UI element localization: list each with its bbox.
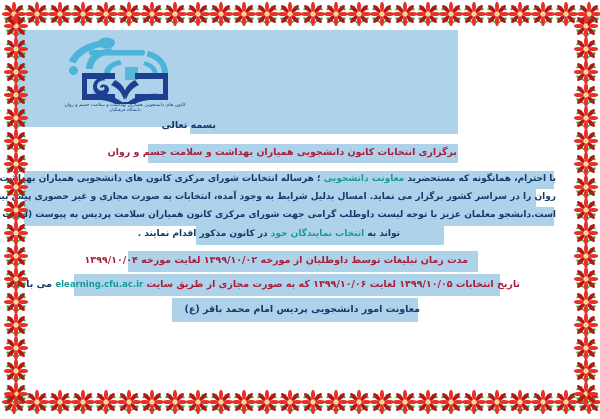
flower-icon [554,390,578,414]
flower-icon [140,390,164,414]
flower-icon [301,2,325,26]
election-date-line: تاریخ انتخابات ۱۳۹۹/۱۰/۰۵ لغایت ۱۳۹۹/۱۰/… [11,280,520,290]
flower-icon [25,2,49,26]
flower-icon [574,313,598,337]
flower-icon [574,60,598,84]
headline-text: برگزاری انتخابات کانون دانشجویی همیاران … [107,148,457,158]
flower-icon [574,129,598,153]
flower-icon [301,390,325,414]
flower-icon [574,244,598,268]
promotion-period-line: مدت زمان تبلیغات توسط داوطلبان از مورخه … [85,256,469,266]
body-line-1-part-b: ؛ هرساله انتخابات شورای مرکزی کانون های … [0,174,321,184]
body-line-1-part-a: با احترام، همانگونه که مستحضرید [407,174,556,184]
body-line-4-highlight: انتخاب نمایندگان خود [271,229,364,239]
flower-icon [574,336,598,360]
poster-canvas: کانون های دانشجویی همیاران بهداشت و سلام… [0,0,600,419]
flower-icon [574,14,598,38]
flower-icon [393,2,417,26]
flower-icon [416,2,440,26]
flower-icon [25,390,49,414]
flower-icon [574,198,598,222]
flower-icon [574,221,598,245]
election-date-from: ۱۳۹۹/۱۰/۰۵ [399,279,452,290]
signature-text: معاونت امور دانشجویی پردیس امام محمد باق… [185,305,420,315]
body-line-3: است.دانشجو معلمان عزیز با توجه لیست داوط… [0,211,556,220]
flower-icon [554,2,578,26]
flower-icon [232,2,256,26]
flower-icon [255,2,279,26]
flower-icon [324,2,348,26]
flower-icon [94,390,118,414]
body-line-4-part-a: تواند به [367,229,400,239]
flower-icon [508,390,532,414]
logo-caption-line2: دانشگاه فرهنگیان [55,107,195,113]
election-date-to: ۱۳۹۹/۱۰/۰۶ [313,279,366,290]
flower-icon [370,390,394,414]
flower-icon [4,290,28,314]
flower-icon [347,2,371,26]
flower-icon [574,152,598,176]
flower-icon [4,129,28,153]
flower-icon [439,2,463,26]
flower-icon [324,390,348,414]
flower-icon [140,2,164,26]
flower-icon [117,390,141,414]
election-channel-label: که به صورت مجازی از طریق سایت [147,279,310,290]
election-mid-label: لغایت [370,279,396,290]
flower-icon [48,2,72,26]
flower-icon [574,290,598,314]
flower-icon [462,2,486,26]
flower-icon [2,2,26,26]
border-right [572,14,598,410]
election-label: تاریخ انتخابات [456,279,520,290]
flower-icon [117,2,141,26]
flower-icon [186,390,210,414]
flower-icon [4,336,28,360]
flower-icon [278,390,302,414]
flower-icon [4,382,28,406]
flower-icon [163,2,187,26]
promotion-mid-label: لغایت مورخه [141,255,200,266]
election-site-url[interactable]: elearning.cfu.ac.ir [55,280,143,290]
flower-icon [48,390,72,414]
flower-icon [439,390,463,414]
flower-icon [485,390,509,414]
flower-icon [209,390,233,414]
flower-icon [574,175,598,199]
flower-icon [4,244,28,268]
flower-icon [393,390,417,414]
flower-icon [71,2,95,26]
body-line-2: روان را در سراسر کشور برگزار می نماید. ا… [0,193,556,202]
flower-icon [232,390,256,414]
promotion-date-to: ۱۳۹۹/۱۰/۰۴ [85,255,138,266]
flower-icon [462,390,486,414]
flower-icon [186,2,210,26]
flower-icon [508,2,532,26]
election-suffix-label: می باشد [11,279,52,290]
flower-icon [531,2,555,26]
flower-icon [531,390,555,414]
panel-bismillah [190,116,458,134]
bismillah-text: بسمه تعالی [162,121,216,131]
border-top [0,2,600,28]
flower-icon [4,313,28,337]
flower-icon [574,359,598,383]
flower-icon [574,382,598,406]
body-line-1: با احترام، همانگونه که مستحضرید معاونت د… [0,175,556,184]
flower-icon [485,2,509,26]
promotion-label: مدت زمان تبلیغات توسط داوطلبان از مورخه [260,255,468,266]
flower-icon [255,390,279,414]
flower-icon [574,106,598,130]
flower-icon [574,83,598,107]
flower-icon [347,390,371,414]
flower-icon [370,2,394,26]
flower-icon [2,390,26,414]
flower-icon [4,359,28,383]
flower-icon [577,2,600,26]
organization-logo: کانون های دانشجویی همیاران بهداشت و سلام… [60,34,190,122]
logo-mark-icon [60,34,190,104]
body-line-1-highlight: معاونت دانشجویی [324,174,405,184]
flower-icon [574,37,598,61]
flower-icon [577,390,600,414]
flower-icon [163,390,187,414]
body-line-4: تواند به انتخاب نمایندگان خود در کانون م… [138,230,400,239]
flower-icon [278,2,302,26]
flower-icon [416,390,440,414]
flower-icon [94,2,118,26]
border-bottom [0,390,600,416]
promotion-date-from: ۱۳۹۹/۱۰/۰۲ [204,255,257,266]
flower-icon [209,2,233,26]
flower-icon [71,390,95,414]
body-line-4-part-b: در کانون مذکور اقدام نمایند . [138,229,268,239]
flower-icon [574,267,598,291]
